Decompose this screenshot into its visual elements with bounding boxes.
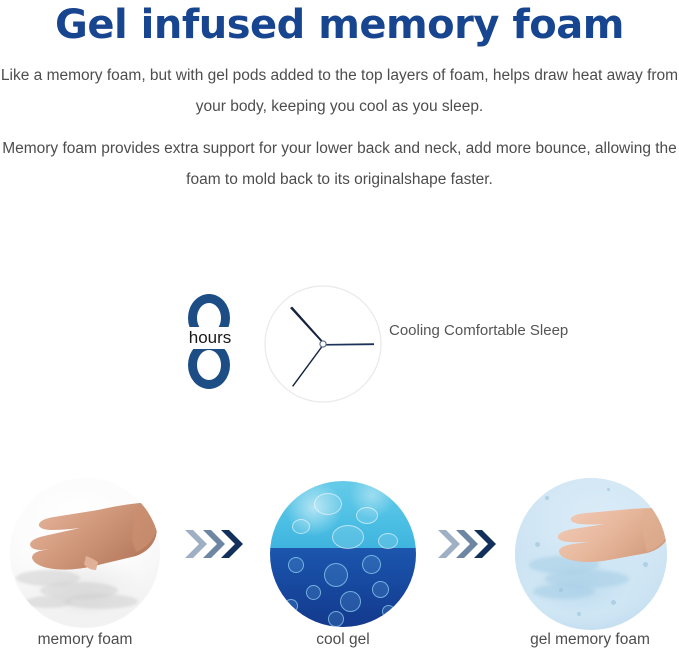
gel-bubble <box>314 493 342 515</box>
gel-bubble <box>306 585 321 600</box>
gel-bubble <box>324 563 348 587</box>
foam-pore <box>577 612 581 616</box>
process-row: memory foam cool gel <box>0 465 679 661</box>
foam-pore <box>607 488 610 491</box>
gel-bubble <box>378 533 398 549</box>
foam-pore <box>535 542 540 547</box>
intro-paragraph-1: Like a memory foam, but with gel pods ad… <box>0 60 679 122</box>
foam-ripple <box>64 594 138 609</box>
process-step-label: memory foam <box>0 630 180 650</box>
gel-bubble <box>292 519 310 534</box>
gel-bubble <box>328 611 344 627</box>
gel-bubble <box>284 599 298 613</box>
memory-foam-circle-icon <box>10 478 160 628</box>
hand-pressing-foam-icon <box>24 500 160 582</box>
page-title: Gel infused memory foam <box>0 2 679 48</box>
process-step-gel-memory-foam: gel memory foam <box>505 465 675 661</box>
foam-pore <box>545 496 549 500</box>
hours-label: hours <box>173 327 247 349</box>
feature-caption: Cooling Comfortable Sleep <box>389 320 569 341</box>
triple-chevron-right-icon <box>183 527 245 561</box>
hand-pressing-gel-foam-icon <box>547 508 667 570</box>
gel-bubble <box>356 507 378 524</box>
foam-pore <box>611 600 616 605</box>
gel-bubble <box>332 525 364 549</box>
process-step-label: cool gel <box>248 630 438 650</box>
gel-bubble <box>288 557 304 573</box>
gel-bubble <box>382 605 395 618</box>
triple-chevron-right-icon <box>436 527 498 561</box>
eight-hours-badge: hours <box>186 294 234 390</box>
foam-crease <box>533 584 595 599</box>
gel-memory-foam-circle-icon <box>515 478 667 630</box>
intro-paragraph-2: Memory foam provides extra support for y… <box>0 133 679 195</box>
gel-bubble <box>362 555 381 574</box>
foam-ripple <box>26 596 72 608</box>
process-step-label: gel memory foam <box>495 630 679 650</box>
clock-icon <box>264 285 382 403</box>
gel-bubble <box>372 581 389 598</box>
process-step-memory-foam: memory foam <box>0 465 170 661</box>
foam-pore <box>559 588 563 592</box>
process-step-cool-gel: cool gel <box>258 465 428 661</box>
cool-gel-circle-icon <box>270 481 416 627</box>
feature-row: hours Cooling Comfortable Sleep <box>0 280 679 410</box>
intro-text-block: Like a memory foam, but with gel pods ad… <box>0 60 679 203</box>
gel-bubble <box>340 591 361 612</box>
